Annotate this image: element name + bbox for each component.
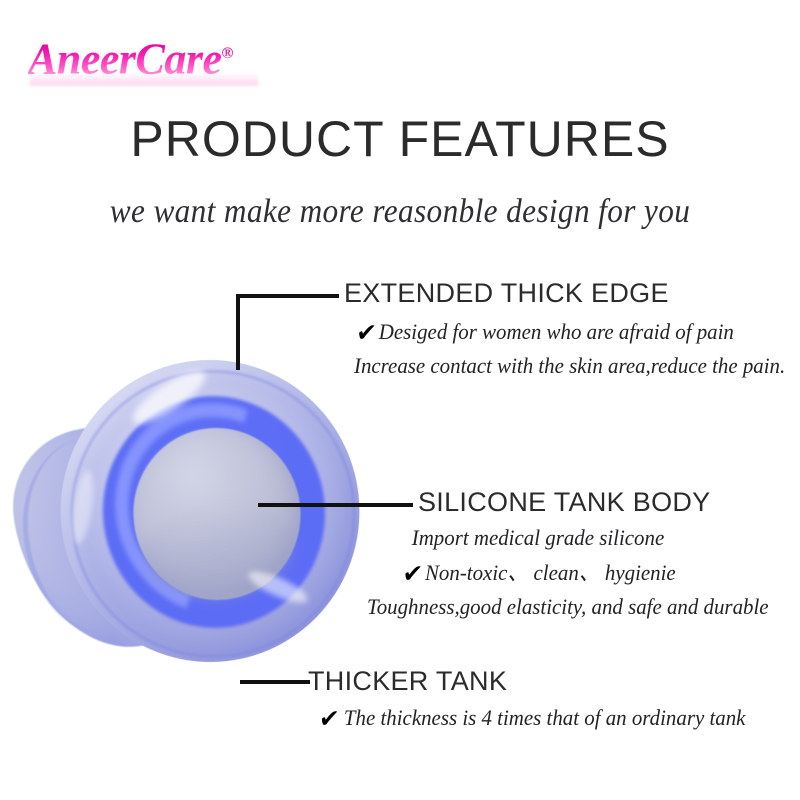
callout-line: ✔Desiged for women who are afraid of pai… [354, 314, 734, 349]
product-image-silicone-cup [14, 352, 374, 682]
callout-line: Toughness,good elasticity, and safe and … [367, 590, 709, 624]
check-icon: ✔ [399, 557, 427, 591]
page-title: PRODUCT FEATURES [0, 108, 800, 170]
leader-line-extended-thick-edge-horizontal [236, 294, 339, 298]
callout-line-text: Desiged for women who are afraid of pain [379, 319, 734, 344]
callout-extended-thick-edge: EXTENDED THICK EDGE ✔Desiged for women w… [344, 278, 744, 383]
callout-line-text: Import medical grade silicone [412, 525, 665, 550]
callout-lines: ✔Desiged for women who are afraid of pai… [344, 314, 744, 383]
callout-line-text: Toughness,good elasticity, and safe and … [367, 594, 769, 619]
callout-title: SILICONE TANK BODY [418, 487, 718, 517]
page-subtitle: we want make more reasonble design for y… [32, 188, 768, 236]
leader-line-thicker-tank [240, 680, 310, 684]
check-icon: ✔ [352, 316, 380, 350]
callout-line: ✔The thickness is 4 times that of an ord… [319, 700, 745, 735]
callout-line-text: Increase contact with the skin area,redu… [354, 353, 785, 378]
leader-line-silicone-tank-body [258, 503, 413, 507]
brand-name: AneerCare [28, 35, 222, 84]
callout-line: Import medical grade silicone [367, 521, 709, 555]
leader-line-extended-thick-edge-vertical [236, 294, 240, 370]
registered-trademark-icon: ® [222, 45, 233, 62]
callout-lines: ✔The thickness is 4 times that of an ord… [308, 700, 757, 735]
check-icon: ✔ [318, 702, 346, 736]
callout-line: Increase contact with the skin area,redu… [354, 349, 734, 383]
product-features-infographic: AneerCare® PRODUCT FEATURES we want make… [0, 0, 800, 800]
callout-silicone-tank-body: SILICONE TANK BODY Import medical grade … [418, 487, 718, 624]
callout-thicker-tank: THICKER TANK ✔The thickness is 4 times t… [308, 666, 757, 735]
callout-title: EXTENDED THICK EDGE [344, 278, 744, 308]
brand-logo: AneerCare® [28, 28, 258, 84]
brand-logo-text: AneerCare® [28, 28, 258, 86]
callout-lines: Import medical grade silicone ✔Non-toxic… [358, 521, 718, 624]
callout-line-text: The thickness is 4 times that of an ordi… [344, 705, 746, 730]
callout-line: ✔Non-toxic、 clean、 hygienie [367, 555, 709, 590]
callout-title: THICKER TANK [308, 666, 757, 696]
callout-line-text: Non-toxic、 clean、 hygienie [425, 560, 676, 585]
